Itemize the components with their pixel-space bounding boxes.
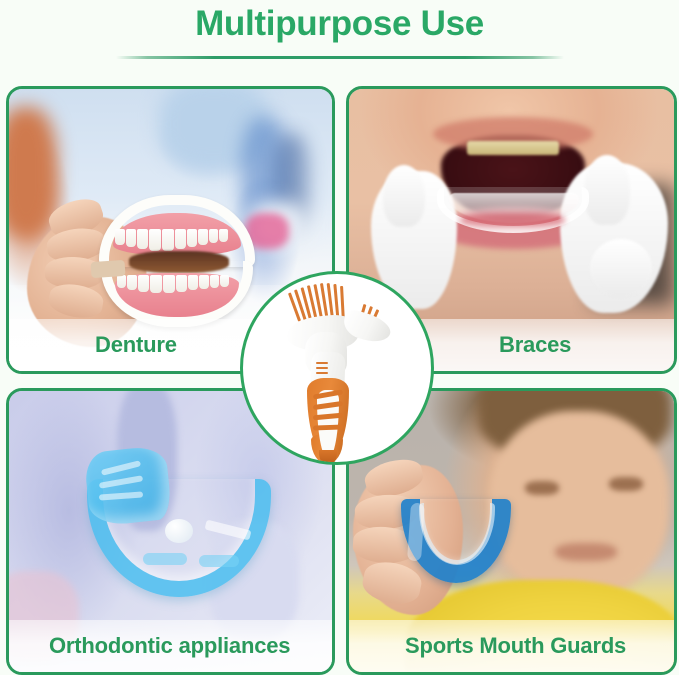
eye [609,477,643,491]
eye [525,481,559,495]
appliance-slit [143,553,187,565]
panel-label-braces: Braces [499,332,571,358]
denture-upper-teeth [115,229,239,251]
glove-thumb [590,239,652,297]
panel-label-band: Sports Mouth Guards [349,620,677,672]
panel-label-orthodontic: Orthodontic appliances [49,633,290,659]
teeth-hint [467,141,559,155]
infographic-root: Multipurpose Use [0,0,679,675]
page-title: Multipurpose Use [0,2,679,46]
aligner-glow [461,213,565,227]
panel-label-band: Orthodontic appliances [9,620,335,672]
denture-lower-teeth [117,275,237,293]
mouth-smile [555,543,617,561]
panel-label-denture: Denture [95,332,177,358]
appliance-slit [199,555,239,567]
denture-hinge [90,260,125,278]
orthodontic-appliance [87,449,271,597]
appliance-bead [165,519,193,543]
title-divider [116,56,564,59]
panel-label-sports: Sports Mouth Guards [405,633,626,659]
denture-cleaning-brush-icon [243,274,431,462]
appliance-wing [83,445,172,527]
glove-finger [383,165,425,227]
face [489,411,669,597]
glove-finger [584,155,630,225]
center-product-badge [240,271,434,465]
